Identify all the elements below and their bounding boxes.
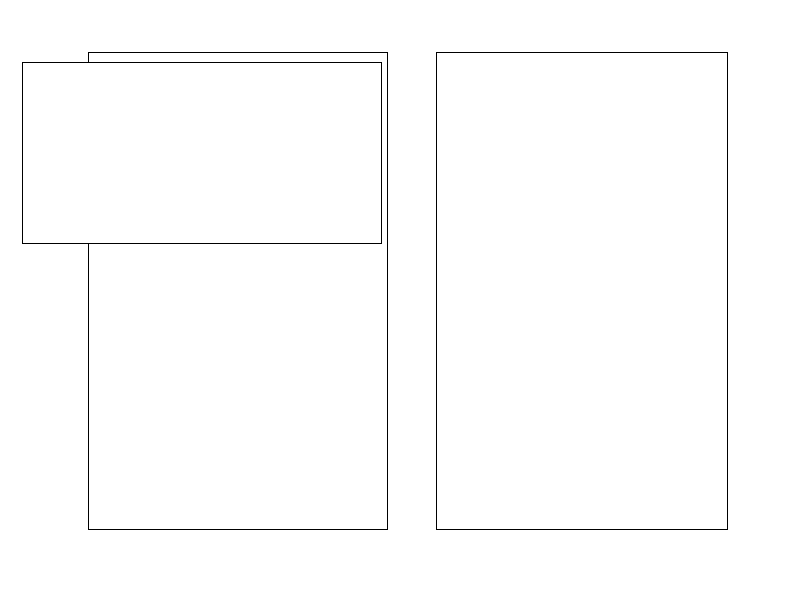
histogram-data-area — [436, 52, 728, 530]
figure-canvas — [0, 0, 800, 600]
legend-box — [22, 62, 382, 244]
histogram-panel — [436, 52, 728, 530]
